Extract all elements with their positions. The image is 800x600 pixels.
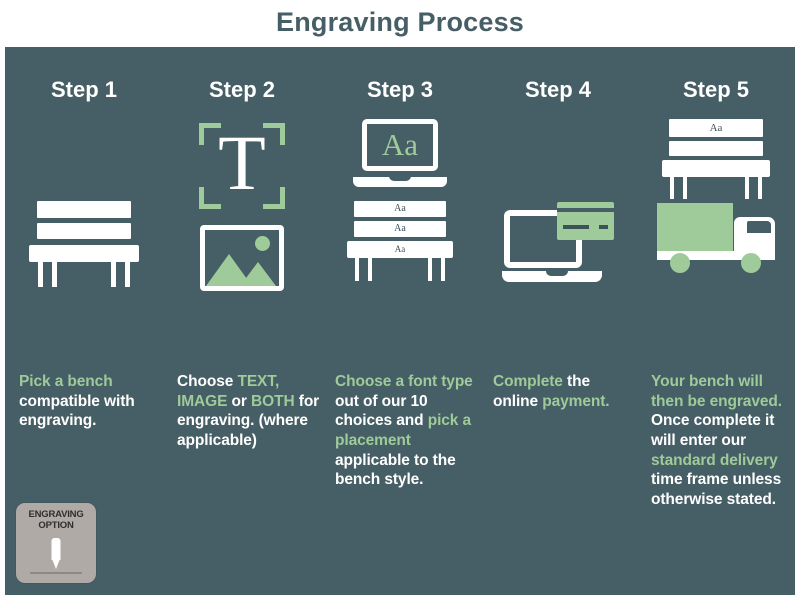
image-icon [200, 225, 284, 291]
desc-part: Choose a font type [335, 373, 473, 390]
steps-columns: Step 1 [5, 47, 795, 595]
laptop-payment-icon [502, 202, 614, 286]
step-icons-3: Aa Aa Aa [321, 119, 479, 369]
credit-card-icon [557, 202, 614, 240]
engraving-option-badge: ENGRAVING OPTION [16, 503, 96, 583]
desc-part: time frame unless otherwise stated. [651, 471, 781, 508]
desc-part: BOTH [251, 393, 295, 410]
engraving-process-infographic: Engraving Process Step 1 [0, 0, 800, 600]
bench-aa-middle: Aa [354, 224, 446, 234]
desc-part: Once complete it will enter our [651, 412, 774, 449]
step-label-5: Step 5 [637, 77, 795, 103]
desc-part: Complete [493, 373, 563, 390]
bench-engraved-icon: Aa [662, 119, 770, 199]
badge-line-1: ENGRAVING [28, 509, 83, 520]
delivery-truck-icon [657, 203, 775, 275]
bracket-top-right [263, 123, 285, 145]
text-t-icon: T [199, 123, 285, 209]
step-column-4: Step 4 Complete the online paym [479, 47, 637, 595]
engraving-tool-tip [52, 559, 60, 569]
letter-t-glyph: T [218, 124, 266, 202]
desc-part: IMAGE [177, 393, 227, 410]
step-description-5: Your bench will then be engraved. Once c… [651, 372, 797, 510]
step-label-1: Step 1 [5, 77, 163, 103]
truck-cargo-box [657, 203, 733, 251]
desc-part: out of our 10 choices and [335, 393, 428, 430]
laptop-screen: Aa [362, 119, 438, 171]
step-description-1: Pick a bench compatible with engraving. [19, 372, 165, 431]
step-label-3: Step 3 [321, 77, 479, 103]
bench-aa-seat: Aa [347, 245, 453, 254]
truck-wheel-rear [670, 253, 690, 273]
desc-part: payment. [542, 393, 609, 410]
step-label-2: Step 2 [163, 77, 321, 103]
bracket-bottom-right [263, 187, 285, 209]
desc-part: Choose [177, 373, 237, 390]
step-icons-4 [479, 119, 637, 369]
step-description-3: Choose a font type out of our 10 choices… [335, 372, 481, 490]
desc-part: Pick a bench [19, 373, 113, 390]
desc-part: applicable to the bench style. [335, 452, 456, 489]
desc-part: or [227, 393, 251, 410]
sun-shape [255, 236, 270, 251]
step-description-2: Choose TEXT, IMAGE or BOTH for engraving… [177, 372, 323, 451]
desc-part: Your bench will then be engraved. [651, 373, 782, 410]
payment-laptop-notch [546, 271, 568, 276]
desc-part: TEXT, [237, 373, 279, 390]
bench-three-aa-icon: Aa Aa Aa [347, 201, 453, 281]
card-number-block-small [599, 225, 608, 229]
card-magnetic-stripe [557, 208, 614, 212]
laptop-font-icon: Aa [353, 119, 447, 187]
bench-aa-top: Aa [354, 204, 446, 214]
desc-part: standard delivery [651, 452, 778, 469]
desc-part: compatible with engraving. [19, 393, 135, 430]
step-column-5: Step 5 Aa [637, 47, 795, 595]
step-icons-1 [5, 119, 163, 369]
step-column-3: Step 3 Aa Aa [321, 47, 479, 595]
badge-text: ENGRAVING OPTION [16, 510, 96, 532]
engraving-tool-icon [52, 538, 61, 560]
laptop-notch [389, 176, 411, 181]
step-icons-5: Aa [637, 119, 795, 369]
step-description-4: Complete the online payment. [493, 372, 639, 411]
step-icons-2: T [163, 119, 321, 373]
card-number-block [563, 225, 589, 229]
badge-line-2: OPTION [38, 520, 73, 531]
steps-panel: Step 1 [5, 47, 795, 595]
step-label-4: Step 4 [479, 77, 637, 103]
step-column-2: Step 2 T Choose [163, 47, 321, 595]
truck-wheel-front [741, 253, 761, 273]
truck-window [747, 221, 771, 233]
bench-icon [29, 201, 139, 287]
badge-underline [30, 572, 82, 574]
screen-font-sample: Aa [367, 129, 433, 160]
bench-aa-top: Aa [669, 123, 763, 134]
page-title: Engraving Process [0, 0, 800, 47]
mountain-small-shape [240, 262, 276, 286]
